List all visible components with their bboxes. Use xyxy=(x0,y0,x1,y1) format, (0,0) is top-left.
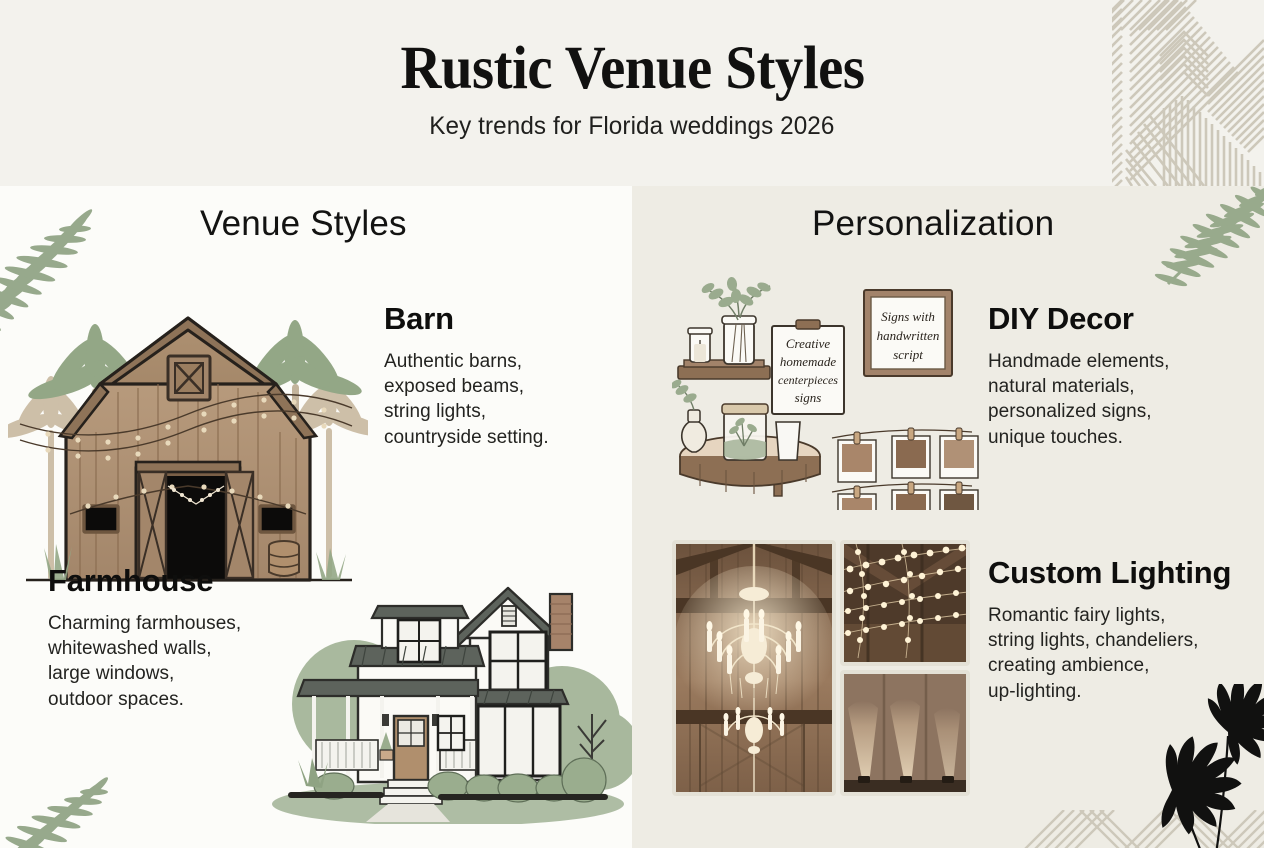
page-title: Rustic Venue Styles xyxy=(400,37,864,100)
svg-text:Signs with: Signs with xyxy=(881,309,935,324)
up-lighting-photo xyxy=(842,672,968,794)
palm-frond-top-right-icon xyxy=(1144,186,1264,320)
right-panel-heading: Personalization xyxy=(812,204,1054,244)
svg-text:handwritten: handwritten xyxy=(877,328,940,343)
palm-frond-bottom-left-icon xyxy=(0,746,178,848)
header-banner: Rustic Venue Styles Key trends for Flori… xyxy=(0,0,1264,186)
left-panel-heading: Venue Styles xyxy=(200,204,407,244)
infographic-page: Rustic Venue Styles Key trends for Flori… xyxy=(0,0,1264,848)
card-diy-decor-title: DIY Decor xyxy=(988,302,1238,337)
string-lights-photo xyxy=(842,542,968,664)
svg-text:homemade: homemade xyxy=(780,354,837,369)
barn-chandelier-photo xyxy=(674,542,834,794)
geometric-lines-pattern-icon xyxy=(1112,0,1264,186)
svg-text:script: script xyxy=(893,347,923,362)
svg-text:centerpieces: centerpieces xyxy=(778,373,838,387)
card-diy-decor: DIY Decor Handmade elements, natural mat… xyxy=(988,302,1238,450)
monstera-leaves-icon xyxy=(1110,684,1264,848)
header-text-block: Rustic Venue Styles Key trends for Flori… xyxy=(0,0,1264,186)
venue-styles-panel: Venue Styles xyxy=(0,186,632,848)
personalization-panel: Personalization xyxy=(632,186,1264,848)
lighting-photo-collage xyxy=(670,538,972,798)
card-barn-body: Authentic barns, exposed beams, string l… xyxy=(384,349,616,450)
farmhouse-illustration xyxy=(262,554,632,824)
diy-decor-illustration: Creative homemade centerpieces signs Sig… xyxy=(672,270,984,510)
card-diy-decor-body: Handmade elements, natural materials, pe… xyxy=(988,349,1238,450)
svg-text:signs: signs xyxy=(795,390,822,405)
page-subtitle: Key trends for Florida weddings 2026 xyxy=(429,112,834,141)
svg-text:Creative: Creative xyxy=(786,336,831,351)
card-barn-title: Barn xyxy=(384,302,616,337)
card-barn: Barn Authentic barns, exposed beams, str… xyxy=(384,302,616,450)
card-custom-lighting: Custom Lighting Romantic fairy lights, s… xyxy=(988,556,1236,704)
card-custom-lighting-title: Custom Lighting xyxy=(988,556,1236,591)
